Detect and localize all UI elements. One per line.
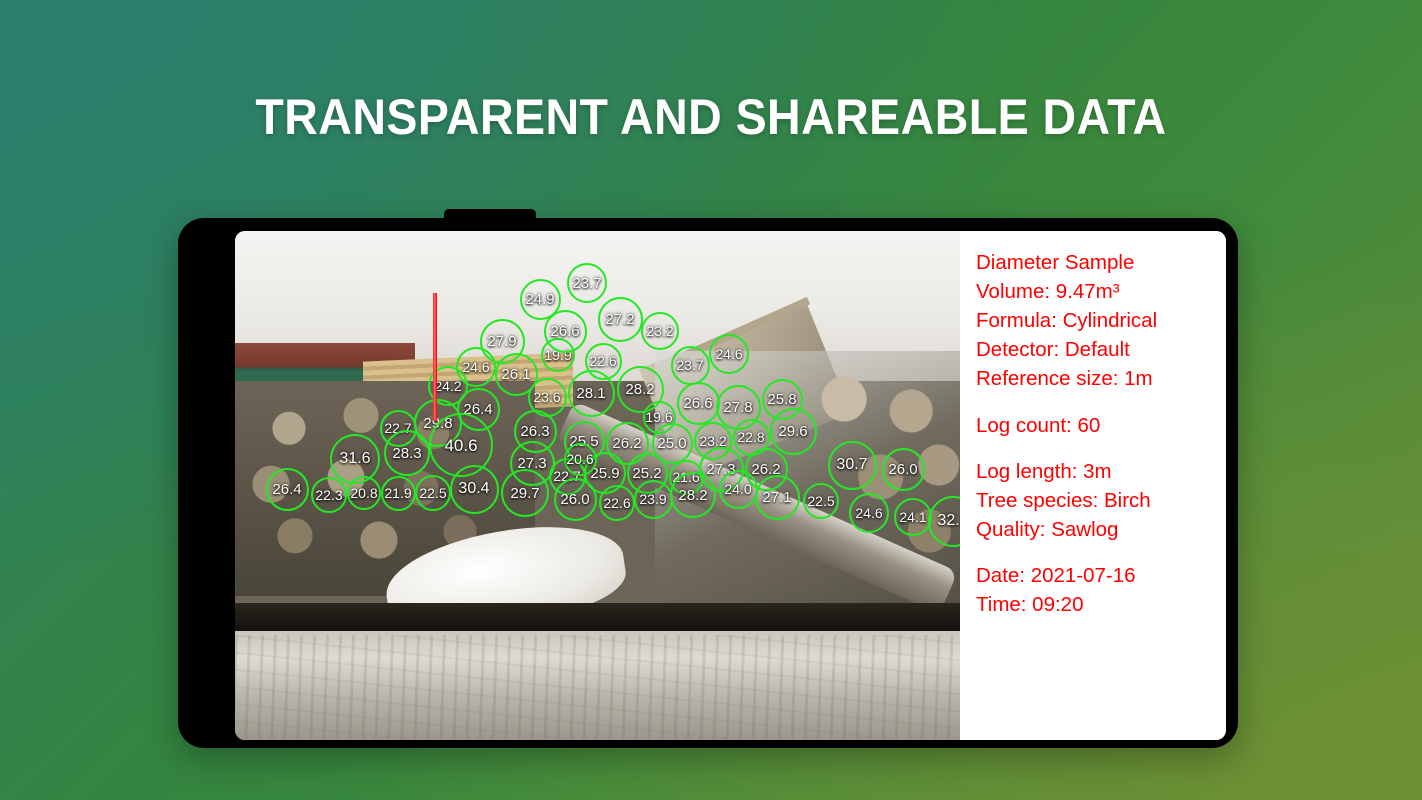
log-diameter-marker[interactable]: 27.2 (598, 297, 643, 342)
log-diameter-marker[interactable]: 26.6 (677, 382, 720, 425)
log-diameter-marker[interactable]: 24.1 (894, 498, 932, 536)
page-headline: TRANSPARENT AND SHAREABLE DATA (50, 88, 1372, 146)
info-detector: Detector: Default (976, 335, 1226, 364)
log-diameter-marker[interactable]: 28.2 (670, 472, 716, 518)
tablet-device-frame: 23.724.927.927.223.224.626.119.922.626.6… (178, 218, 1238, 748)
photo-ground-texture (235, 635, 960, 739)
log-diameter-marker[interactable]: 30.4 (450, 465, 499, 514)
log-diameter-marker[interactable]: 23.9 (634, 480, 673, 519)
info-spacer-1 (976, 394, 1226, 411)
info-log-count: Log count: 60 (976, 411, 1226, 440)
measurement-info-panel: Diameter Sample Volume: 9.47m³ Formula: … (960, 231, 1226, 740)
info-title: Diameter Sample (976, 248, 1226, 277)
info-formula: Formula: Cylindrical (976, 306, 1226, 335)
log-diameter-marker[interactable]: 24.6 (709, 334, 749, 374)
info-spacer-3 (976, 544, 1226, 561)
log-pile-photo[interactable]: 23.724.927.927.223.224.626.119.922.626.6… (235, 231, 960, 740)
log-diameter-marker[interactable]: 22.5 (415, 475, 451, 511)
log-diameter-marker[interactable]: 30.7 (828, 441, 877, 490)
log-diameter-marker[interactable]: 22.5 (803, 483, 839, 519)
log-diameter-marker[interactable]: 26.4 (266, 468, 309, 511)
info-quality: Quality: Sawlog (976, 515, 1226, 544)
log-diameter-marker[interactable]: 21.9 (381, 476, 416, 511)
log-diameter-marker[interactable]: 22.6 (599, 485, 635, 521)
camera-notch-icon (444, 209, 536, 221)
log-diameter-marker[interactable]: 20.8 (347, 476, 381, 510)
log-diameter-marker[interactable]: 24.0 (719, 470, 758, 509)
info-reference-size: Reference size: 1m (976, 364, 1226, 393)
log-diameter-marker[interactable]: 20.6 (564, 443, 597, 476)
log-diameter-marker[interactable]: 22.3 (311, 477, 347, 513)
log-diameter-marker[interactable]: 23.2 (641, 312, 679, 350)
log-diameter-marker[interactable]: 24.6 (849, 493, 889, 533)
log-diameter-marker[interactable]: 28.1 (568, 370, 615, 417)
device-screen: 23.724.927.927.223.224.626.119.922.626.6… (235, 231, 1226, 740)
info-log-length: Log length: 3m (976, 457, 1226, 486)
log-diameter-marker[interactable]: 28.3 (384, 430, 430, 476)
log-diameter-marker[interactable]: 23.7 (671, 346, 710, 385)
reference-line (433, 293, 437, 421)
info-date: Date: 2021-07-16 (976, 561, 1226, 590)
log-diameter-marker[interactable]: 26.0 (554, 478, 597, 521)
info-tree-species: Tree species: Birch (976, 486, 1226, 515)
info-spacer-2 (976, 440, 1226, 457)
log-diameter-marker[interactable]: 23.7 (567, 263, 607, 303)
log-diameter-marker[interactable]: 26.0 (882, 448, 925, 491)
info-time: Time: 09:20 (976, 590, 1226, 619)
log-diameter-marker[interactable]: 26.6 (544, 310, 587, 353)
log-diameter-marker[interactable]: 29.7 (501, 469, 549, 517)
log-diameter-marker[interactable]: 29.6 (770, 408, 817, 455)
log-diameter-marker[interactable]: 31.6 (330, 434, 380, 484)
log-diameter-marker[interactable]: 27.1 (755, 475, 800, 520)
info-volume: Volume: 9.47m³ (976, 277, 1226, 306)
